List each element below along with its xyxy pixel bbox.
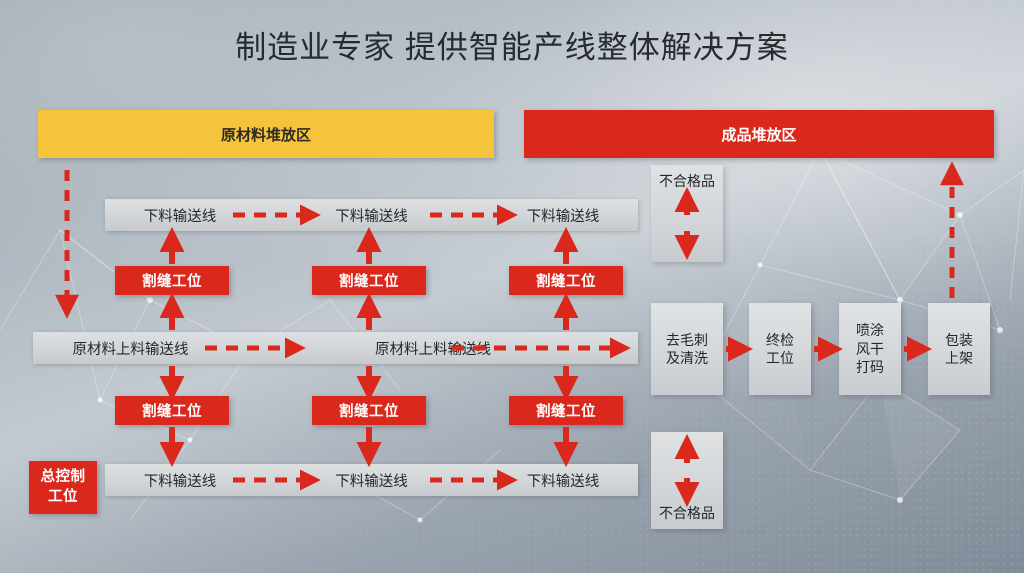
conveyor-top-row[interactable]: 下料输送线 下料输送线 下料输送线 bbox=[105, 199, 638, 231]
process-box-spray-dry-code[interactable]: 喷涂 风干 打码 bbox=[839, 303, 901, 395]
conveyor-top-segment-2: 下料输送线 bbox=[297, 205, 447, 226]
station-upper-slit-2-label: 割缝工位 bbox=[339, 270, 399, 291]
conveyor-top-arrow-1-slot bbox=[255, 199, 297, 231]
station-lower-slit-2[interactable]: 割缝工位 bbox=[312, 396, 426, 425]
station-main-control-label-line1: 总控制 bbox=[41, 468, 86, 488]
reject-box-bottom-label: 不合格品 bbox=[659, 503, 715, 523]
banner-finished-goods-zone[interactable]: 成品堆放区 bbox=[524, 110, 994, 158]
station-upper-slit-1-label: 割缝工位 bbox=[142, 270, 202, 291]
station-upper-slit-3[interactable]: 割缝工位 bbox=[509, 266, 623, 295]
banner-finished-goods-label: 成品堆放区 bbox=[721, 124, 796, 145]
reject-box-top[interactable]: 不合格品 bbox=[651, 165, 723, 262]
conveyor-middle-arrow-2-slot bbox=[531, 332, 639, 364]
conveyor-bottom-arrow-2-slot bbox=[447, 464, 489, 496]
conveyor-bottom-segment-2: 下料输送线 bbox=[297, 470, 447, 491]
process-box-deburr-wash[interactable]: 去毛刺 及清洗 bbox=[651, 303, 723, 395]
process-box-pack-shelve-line1: 包装 bbox=[945, 331, 973, 349]
conveyor-bottom-arrow-1-slot bbox=[255, 464, 297, 496]
process-box-pack-shelve[interactable]: 包装 上架 bbox=[928, 303, 990, 395]
station-upper-slit-1[interactable]: 割缝工位 bbox=[115, 266, 229, 295]
banner-raw-material-label: 原材料堆放区 bbox=[221, 124, 311, 145]
conveyor-top-segment-1: 下料输送线 bbox=[105, 205, 255, 226]
process-box-final-inspection-line2: 工位 bbox=[766, 349, 794, 367]
station-main-control[interactable]: 总控制 工位 bbox=[29, 461, 97, 514]
conveyor-middle-segment-1: 原材料上料输送线 bbox=[33, 338, 228, 359]
conveyor-middle-row[interactable]: 原材料上料输送线 原材料上料输送线 bbox=[33, 332, 638, 364]
station-lower-slit-3[interactable]: 割缝工位 bbox=[509, 396, 623, 425]
process-box-final-inspection[interactable]: 终检 工位 bbox=[749, 303, 811, 395]
conveyor-top-arrow-2-slot bbox=[447, 199, 489, 231]
station-main-control-label-line2: 工位 bbox=[48, 488, 78, 508]
process-box-final-inspection-line1: 终检 bbox=[766, 331, 794, 349]
conveyor-bottom-row[interactable]: 下料输送线 下料输送线 下料输送线 bbox=[105, 464, 638, 496]
reject-box-top-label: 不合格品 bbox=[659, 171, 715, 191]
banner-raw-material-zone[interactable]: 原材料堆放区 bbox=[38, 110, 494, 158]
process-box-spray-dry-code-line3: 打码 bbox=[856, 358, 884, 376]
station-upper-slit-2[interactable]: 割缝工位 bbox=[312, 266, 426, 295]
conveyor-bottom-segment-3: 下料输送线 bbox=[488, 470, 638, 491]
page-title: 制造业专家 提供智能产线整体解决方案 bbox=[0, 22, 1024, 67]
process-box-deburr-wash-line2: 及清洗 bbox=[666, 349, 708, 367]
conveyor-middle-segment-2: 原材料上料输送线 bbox=[336, 338, 531, 359]
station-lower-slit-3-label: 割缝工位 bbox=[536, 400, 596, 421]
process-box-deburr-wash-line1: 去毛刺 bbox=[666, 331, 708, 349]
process-box-spray-dry-code-line1: 喷涂 bbox=[856, 321, 884, 339]
station-lower-slit-1[interactable]: 割缝工位 bbox=[115, 396, 229, 425]
reject-box-bottom[interactable]: 不合格品 bbox=[651, 432, 723, 529]
process-box-pack-shelve-line2: 上架 bbox=[945, 349, 973, 367]
process-box-spray-dry-code-line2: 风干 bbox=[856, 340, 884, 358]
station-lower-slit-1-label: 割缝工位 bbox=[142, 400, 202, 421]
conveyor-bottom-segment-1: 下料输送线 bbox=[105, 470, 255, 491]
conveyor-top-segment-3: 下料输送线 bbox=[488, 205, 638, 226]
conveyor-middle-arrow-1-slot bbox=[228, 332, 336, 364]
station-lower-slit-2-label: 割缝工位 bbox=[339, 400, 399, 421]
station-upper-slit-3-label: 割缝工位 bbox=[536, 270, 596, 291]
slide-canvas: 制造业专家 提供智能产线整体解决方案 原材料堆放区 成品堆放区 下料输送线 下料… bbox=[0, 0, 1024, 573]
